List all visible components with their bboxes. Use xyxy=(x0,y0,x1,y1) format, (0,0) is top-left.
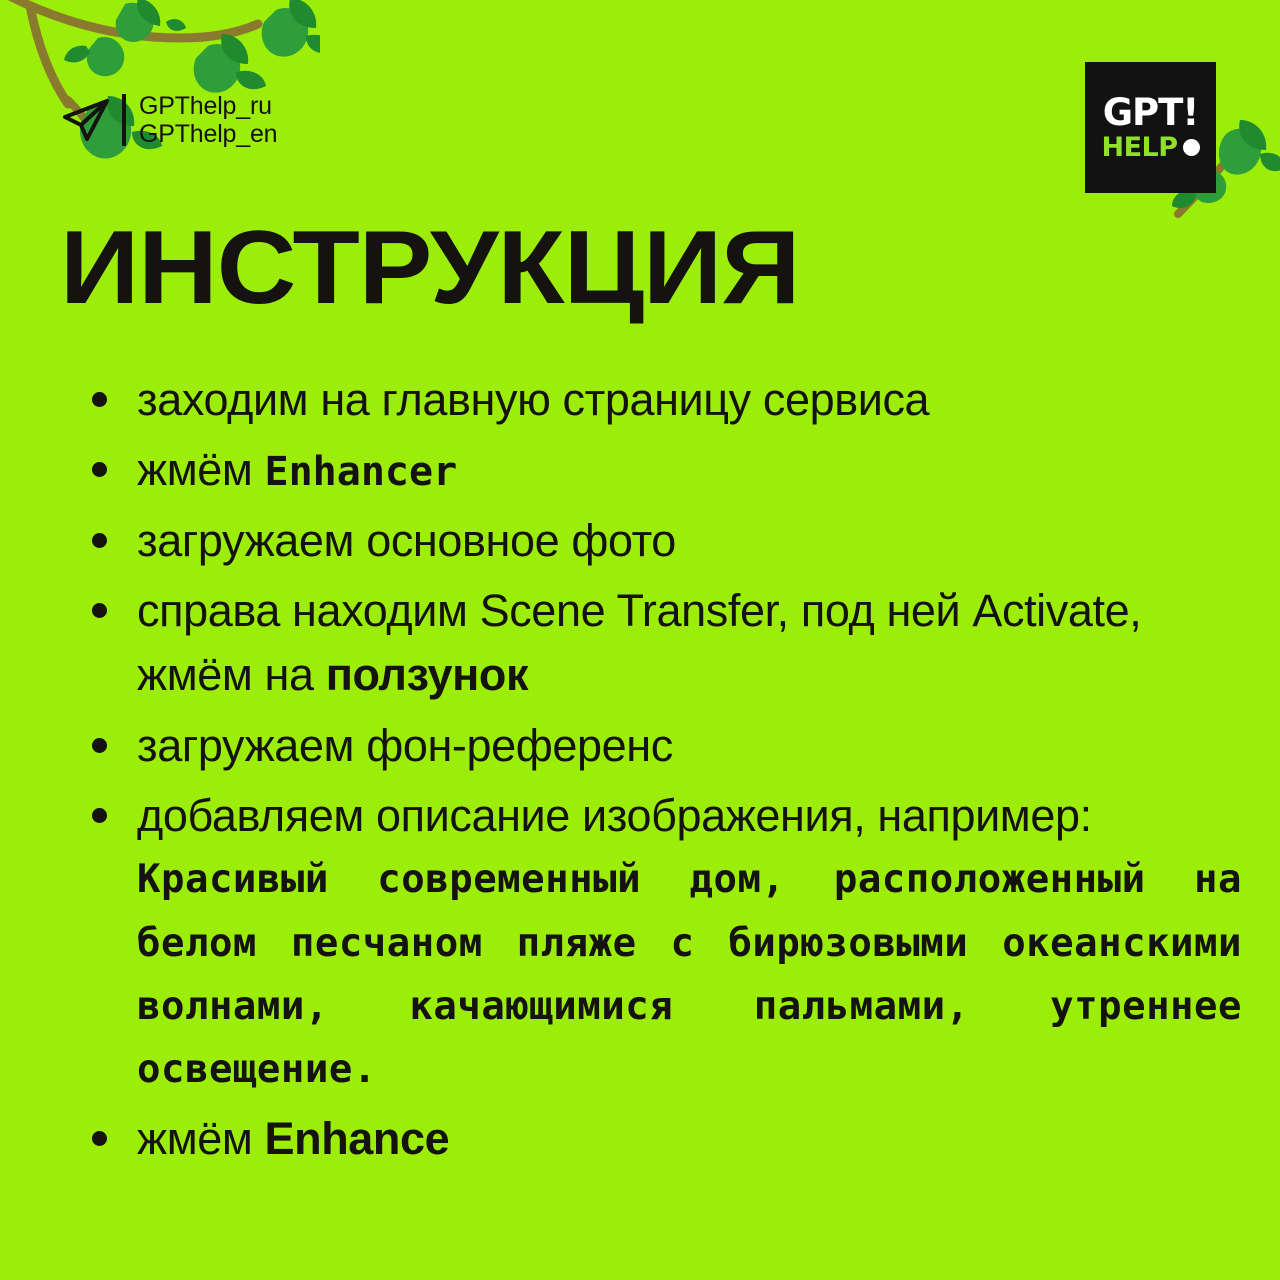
instruction-steps-list: заходим на главную страницу сервиса жмём… xyxy=(92,368,1242,1177)
list-item: загружаем фон-референс xyxy=(92,714,1242,778)
page-title: ИНСТРУКЦИЯ xyxy=(60,216,799,320)
prompt-example-text: Красивый современный дом, расположенный … xyxy=(137,848,1242,1101)
handle-en[interactable]: GPThelp_en xyxy=(139,120,277,148)
step-emphasis-slider: ползунок xyxy=(326,649,528,700)
step-press-enhance: жмём Enhance xyxy=(137,1107,1242,1171)
telegram-plane-icon xyxy=(62,97,112,143)
step-add-description: добавляем описание изображения, например… xyxy=(137,784,1242,1101)
logo-line-gpt: GPT! xyxy=(1103,94,1199,131)
step-emphasis-enhancer: Enhancer xyxy=(265,449,458,495)
step-text-lead: жмём xyxy=(137,444,265,495)
bullet-dot-icon xyxy=(92,1131,107,1146)
list-item: загружаем основное фото xyxy=(92,509,1242,573)
step-open-main-page: заходим на главную страницу сервиса xyxy=(137,368,1242,432)
bullet-dot-icon xyxy=(92,392,107,407)
bullet-dot-icon xyxy=(92,603,107,618)
step-scene-transfer: справа находим Scene Transfer, под ней A… xyxy=(137,579,1242,708)
telegram-handles-block[interactable]: GPThelp_ru GPThelp_en xyxy=(62,92,277,148)
bullet-dot-icon xyxy=(92,462,107,477)
step-text-lead: справа находим Scene Transfer, под ней A… xyxy=(137,585,1141,700)
step-text-lead: добавляем описание изображения, например… xyxy=(137,790,1092,841)
bullet-dot-icon xyxy=(92,533,107,548)
gpthelp-logo[interactable]: GPT! HELP xyxy=(1085,62,1216,193)
bullet-dot-icon xyxy=(92,738,107,753)
logo-dot-icon xyxy=(1183,139,1200,156)
handle-ru[interactable]: GPThelp_ru xyxy=(139,92,277,120)
bullet-dot-icon xyxy=(92,808,107,823)
logo-line-help: HELP xyxy=(1101,134,1177,161)
handle-list: GPThelp_ru GPThelp_en xyxy=(139,92,277,148)
step-press-enhancer: жмём Enhancer xyxy=(137,438,1242,502)
poster-canvas: GPThelp_ru GPThelp_en GPT! HELP ИНСТРУКЦ… xyxy=(0,0,1280,1280)
step-emphasis-enhance: Enhance xyxy=(265,1113,450,1164)
logo-line-help-row: HELP xyxy=(1101,134,1199,161)
list-item: заходим на главную страницу сервиса xyxy=(92,368,1242,432)
list-item: жмём Enhancer xyxy=(92,438,1242,502)
list-item: добавляем описание изображения, например… xyxy=(92,784,1242,1101)
list-item: справа находим Scene Transfer, под ней A… xyxy=(92,579,1242,708)
list-item: жмём Enhance xyxy=(92,1107,1242,1171)
step-upload-background-reference: загружаем фон-референс xyxy=(137,714,1242,778)
divider-bar xyxy=(122,94,126,146)
step-upload-main-photo: загружаем основное фото xyxy=(137,509,1242,573)
step-text-lead: жмём xyxy=(137,1113,265,1164)
